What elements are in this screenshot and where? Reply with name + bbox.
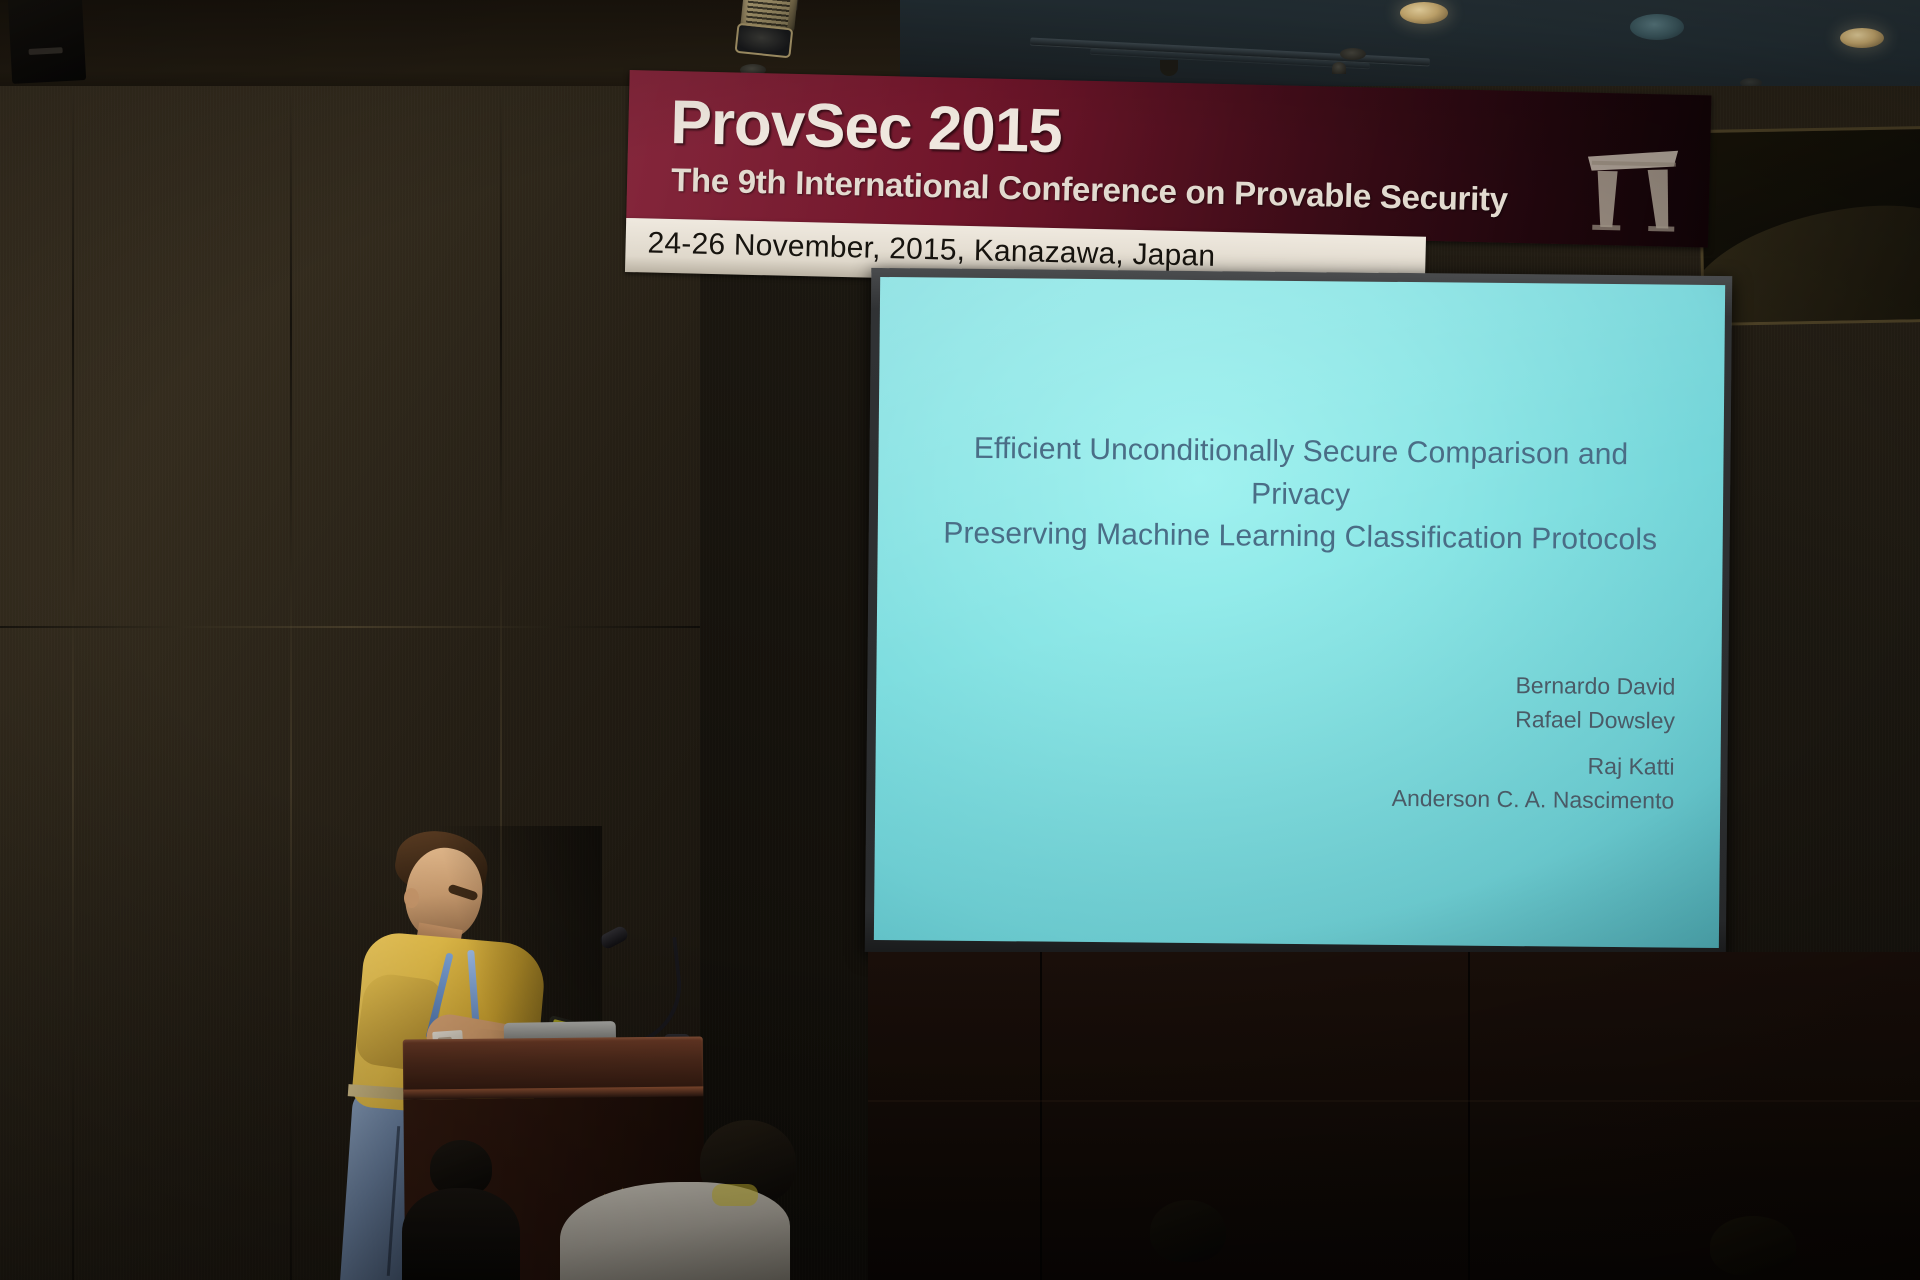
slide-title-line-1: Efficient Unconditionally Secure Compari… [922,427,1680,519]
banner-date-text: 24-26 November, 2015, Kanazawa, Japan [647,226,1215,273]
microphone-arm [611,937,688,1047]
slide-title: Efficient Unconditionally Secure Compari… [878,427,1724,563]
audience-collar [712,1184,758,1206]
slide-author: Bernardo David [1393,668,1676,703]
stage-panel-seam [1040,952,1042,1280]
stage-spotlight [731,0,806,61]
screen-glow [874,277,1725,948]
ceiling-downlight [1840,28,1884,48]
podium-desktop [403,1036,704,1091]
audience-member [560,1120,820,1280]
spotlight-lens [735,23,794,59]
audience-shoulders [402,1188,520,1280]
audience-member [1120,1200,1300,1280]
ceiling-downlight [1400,2,1448,24]
audience-member [400,1140,520,1280]
projection-screen-frame: Efficient Unconditionally Secure Compari… [865,268,1733,960]
conference-room-photo: ProvSec 2015 The 9th International Confe… [0,0,1920,1280]
wall-panel-seam [290,86,292,1280]
projection-screen: Efficient Unconditionally Secure Compari… [874,277,1725,948]
stage-panel-seam [868,1100,1920,1102]
presenter-ear [404,888,419,908]
audience-head [1150,1200,1226,1262]
ceiling-speaker-icon [1340,48,1366,60]
wall-mounted-speaker [8,0,86,84]
stage-panel-seam [1468,952,1470,1280]
banner-title: ProvSec 2015 [670,87,1063,167]
audience-member [1690,1210,1860,1280]
conference-banner: ProvSec 2015 The 9th International Confe… [625,58,1712,301]
slide-title-line-2: Preserving Machine Learning Classificati… [922,513,1679,563]
slide-author: Raj Katti [1392,748,1675,783]
wall-panel-seam [72,86,74,1280]
ceiling-sprinkler-icon [1332,62,1346,74]
audience-head [1710,1216,1796,1276]
wall-panel-seam [0,626,700,628]
slide-author: Rafael Dowsley [1392,702,1675,737]
slide-author: Anderson C. A. Nascimento [1392,782,1675,817]
slide-author-list: Bernardo David Rafael Dowsley Raj Katti … [1392,668,1676,817]
kotoji-lantern-logo [1576,130,1688,235]
ceiling-downlight [1630,14,1684,40]
